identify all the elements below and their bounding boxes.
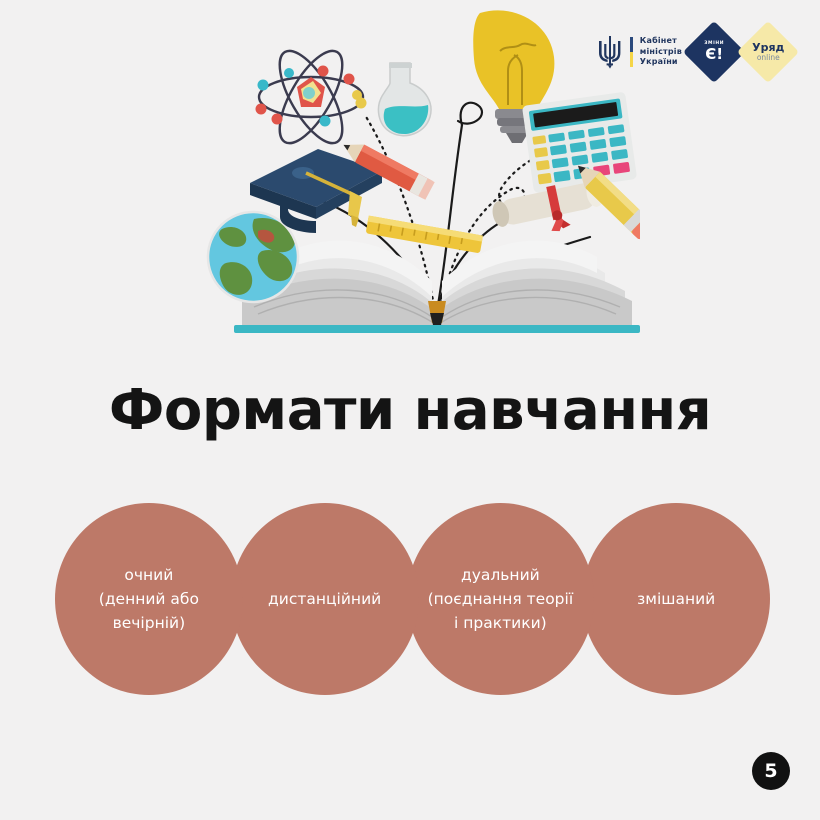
slide-root: Кабінет міністрів України ЗМІНИ Є! Уряд … [0,0,820,820]
uryad-online-badge-content: Уряд online [752,42,784,62]
flask-icon [378,63,431,136]
format-circle-dualnyi[interactable]: дуальний (поєднання теорії і практики) [407,503,595,695]
yellow-ruler-icon [366,216,483,254]
page-title: Формати навчання [0,378,820,443]
format-label: змішаний [623,587,729,611]
format-circle-ochnyi[interactable]: очний (денний або вечірній) [55,503,243,695]
gov-logo-line-3: України [640,57,682,68]
format-label: дистанційний [254,587,395,611]
uryad-label: Уряд [752,42,784,53]
uryad-online-badge: Уряд online [737,21,799,83]
online-label: online [752,54,784,62]
format-circle-dystantsiinyi[interactable]: дистанційний [231,503,419,695]
cabinet-logo-text: Кабінет міністрів України [640,36,682,68]
gov-logo-line-1: Кабінет [640,36,682,47]
format-label: дуальний (поєднання теорії і практики) [414,563,588,635]
page-number-badge: 5 [752,752,790,790]
ye-label: Є! [704,47,724,62]
zminy-ye-badge-content: ЗМІНИ Є! [704,42,724,62]
atom-icon [256,42,367,152]
open-book-education-illustration [170,5,640,335]
formats-circle-row: очний (денний або вечірній) дистанційний… [55,503,770,695]
gov-logo-line-2: міністрів [640,47,682,58]
format-circle-zmishanyi[interactable]: змішаний [582,503,770,695]
globe-icon [208,212,298,302]
zminy-ye-badge: ЗМІНИ Є! [683,21,745,83]
format-label: очний (денний або вечірній) [85,563,213,635]
calculator-icon [522,92,637,194]
